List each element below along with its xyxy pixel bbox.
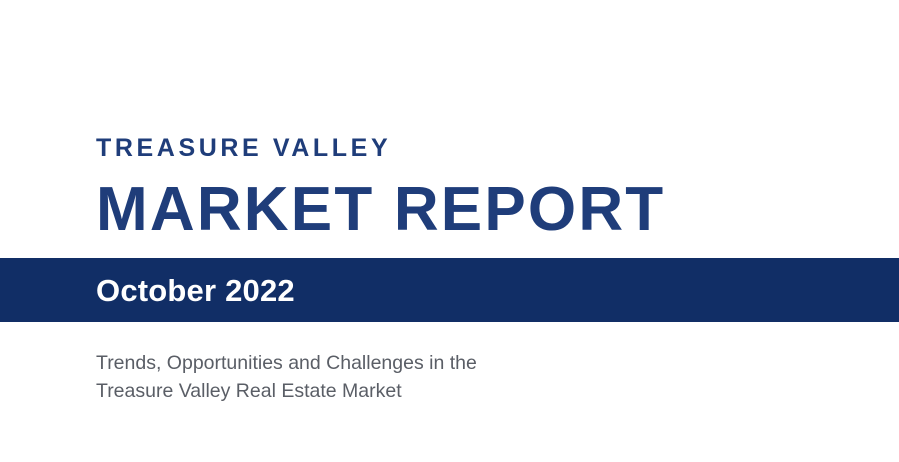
report-subtitle-line-1: Trends, Opportunities and Challenges in … [96,350,696,378]
report-cover-page: TREASURE VALLEY MARKET REPORT October 20… [0,0,899,462]
report-subtitle-line-2: Treasure Valley Real Estate Market [96,378,696,406]
report-subtitle: Trends, Opportunities and Challenges in … [96,350,696,405]
page-title: MARKET REPORT [96,179,836,241]
report-eyebrow-region: TREASURE VALLEY [96,136,836,161]
masthead: TREASURE VALLEY MARKET REPORT [96,136,836,241]
report-date-band: October 2022 [0,258,899,322]
report-date-label: October 2022 [96,275,295,306]
